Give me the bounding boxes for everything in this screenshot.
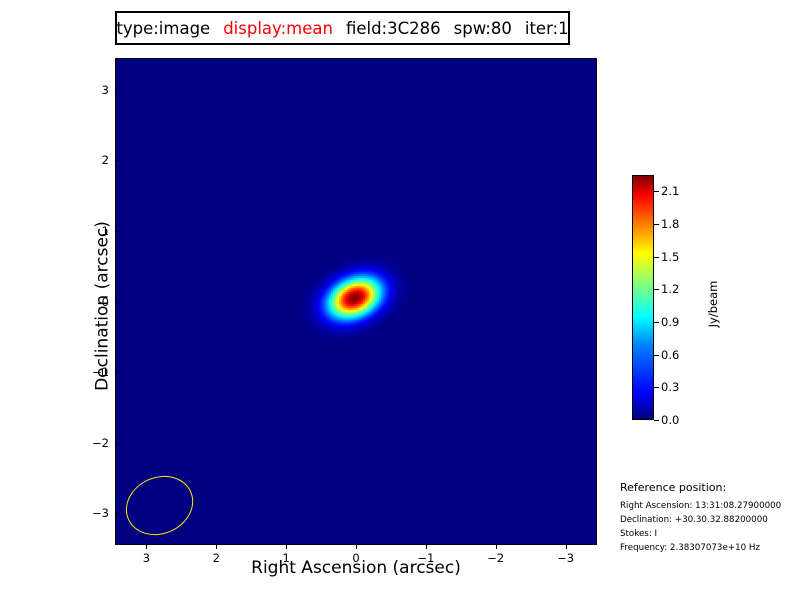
y-tick-mark [115,160,119,161]
y-tick-mark [115,513,119,514]
colorbar[interactable]: 0.00.30.60.91.21.51.82.1 [632,175,654,420]
title-segment-iter: iter:1 [525,19,569,38]
image-info-title-bar: type:image display:mean field:3C286 spw:… [115,11,570,45]
colorbar-tick-label: 2.1 [661,184,679,198]
reference-position-stokes: Stokes: I [620,527,798,541]
colorbar-tick-mark [654,322,659,323]
colorbar-tick-mark [654,289,659,290]
reference-position-dec: Declination: +30.30.32.88200000 [620,513,798,527]
x-tick-mark [216,545,217,549]
x-tick-mark [496,545,497,549]
image-heatmap-canvas[interactable] [116,59,596,544]
colorbar-tick-mark [654,257,659,258]
colorbar-tick-label: 0.9 [661,315,679,329]
colorbar-tick-mark [654,224,659,225]
y-tick-mark [115,302,119,303]
y-tick-mark [115,372,119,373]
x-tick-mark [426,545,427,549]
y-tick-mark [115,443,119,444]
x-tick-mark [146,545,147,549]
sky-image-plot-area[interactable] [115,58,597,545]
reference-position-heading: Reference position: [620,481,798,494]
title-segment-spw: spw:80 [454,19,512,38]
y-axis-label: Declination (arcsec) [93,63,113,550]
x-tick-mark [566,545,567,549]
title-segment-display: display:mean [223,19,333,38]
x-tick-mark [286,545,287,549]
y-tick-mark [115,90,119,91]
colorbar-tick-label: 1.5 [661,250,679,264]
x-axis-label: Right Ascension (arcsec) [115,558,597,578]
colorbar-tick-label: 0.6 [661,348,679,362]
colorbar-tick-mark [654,420,659,421]
colorbar-tick-mark [654,355,659,356]
reference-position-block: Reference position: Right Ascension: 13:… [620,481,798,555]
reference-position-ra: Right Ascension: 13:31:08.27900000 [620,499,798,513]
colorbar-tick-mark [654,387,659,388]
colorbar-tick-label: 1.2 [661,282,679,296]
colorbar-tick-label: 0.0 [661,413,679,427]
colorbar-gradient [632,175,654,420]
title-segment-type: type:image [116,19,210,38]
colorbar-tick-label: 1.8 [661,217,679,231]
y-tick-mark [115,231,119,232]
reference-position-frequency: Frequency: 2.38307073e+10 Hz [620,541,798,555]
x-tick-mark [356,545,357,549]
colorbar-unit-label: Jy/beam [706,224,720,384]
colorbar-tick-mark [654,191,659,192]
title-segment-field: field:3C286 [346,19,441,38]
colorbar-tick-label: 0.3 [661,380,679,394]
